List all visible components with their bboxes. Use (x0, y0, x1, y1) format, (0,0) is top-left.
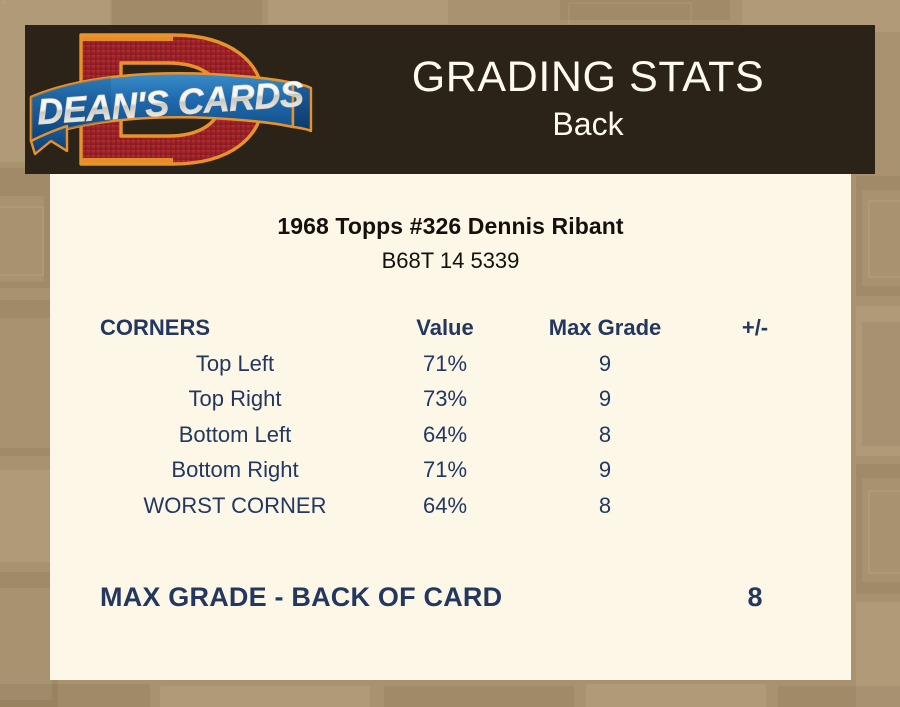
page-subtitle: Back (552, 105, 623, 143)
max-grade-summary: MAX GRADE - BACK OF CARD 8 (100, 582, 820, 613)
logo-artwork: DEAN'S CARDS (25, 25, 315, 174)
row-value: 71% (370, 346, 520, 382)
row-plus-minus (690, 381, 820, 417)
row-value: 64% (370, 417, 520, 453)
header-band: DEAN'S CARDS GRADING STATS Back (25, 25, 875, 174)
table-row-worst-corner: WORST CORNER 64% 8 (100, 488, 820, 524)
worst-corner-value: 64% (370, 488, 520, 524)
card-title: 1968 Topps #326 Dennis Ribant (50, 213, 851, 240)
worst-corner-max-grade: 8 (520, 488, 690, 524)
table-row: Top Right 73% 9 (100, 381, 820, 417)
row-label: Bottom Right (100, 452, 370, 488)
deans-cards-logo[interactable]: DEAN'S CARDS (25, 25, 315, 174)
row-max-grade: 9 (520, 452, 690, 488)
column-header-max-grade: Max Grade (520, 310, 690, 346)
worst-corner-plus-minus (690, 488, 820, 524)
page-title: GRADING STATS (412, 52, 765, 102)
table-header-row: CORNERS Value Max Grade +/- (100, 310, 820, 346)
row-plus-minus (690, 346, 820, 382)
row-max-grade: 9 (520, 346, 690, 382)
row-max-grade: 8 (520, 417, 690, 453)
worst-corner-label: WORST CORNER (100, 488, 370, 524)
max-grade-value: 8 (690, 582, 820, 613)
row-plus-minus (690, 417, 820, 453)
column-header-plus-minus: +/- (690, 310, 820, 346)
max-grade-label: MAX GRADE - BACK OF CARD (100, 582, 502, 613)
card-serial: B68T 14 5339 (50, 248, 851, 274)
row-label: Top Left (100, 346, 370, 382)
row-value: 71% (370, 452, 520, 488)
corners-stats-table: CORNERS Value Max Grade +/- Top Left 71%… (100, 310, 820, 523)
row-value: 73% (370, 381, 520, 417)
row-label: Top Right (100, 381, 370, 417)
row-max-grade: 9 (520, 381, 690, 417)
row-label: Bottom Left (100, 417, 370, 453)
column-header-value: Value (370, 310, 520, 346)
table-row: Bottom Left 64% 8 (100, 417, 820, 453)
header-titles: GRADING STATS Back (315, 25, 875, 174)
content-panel: 1968 Topps #326 Dennis Ribant B68T 14 53… (50, 174, 851, 680)
table-row: Top Left 71% 9 (100, 346, 820, 382)
row-plus-minus (690, 452, 820, 488)
table-row: Bottom Right 71% 9 (100, 452, 820, 488)
column-header-corners: CORNERS (100, 310, 370, 346)
